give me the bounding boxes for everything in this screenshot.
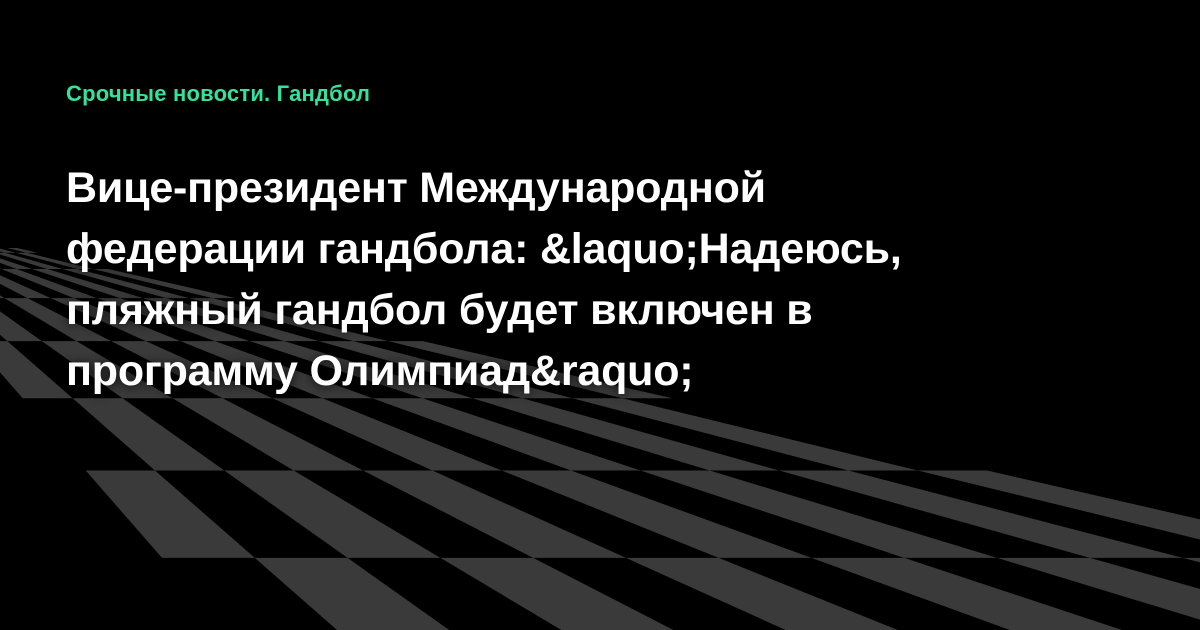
page-title: Вице-президент Международной федерации г… — [66, 158, 1076, 402]
headline-line: федерации гандбола: &laquo;Надеюсь, — [66, 219, 1076, 280]
headline-line: пляжный гандбол будет включен в — [66, 280, 1076, 341]
headline-line: Вице-президент Международной — [66, 158, 1076, 219]
share-card: Срочные новости. Гандбол Вице-президент … — [0, 0, 1200, 630]
kicker-label: Срочные новости. Гандбол — [66, 80, 370, 108]
headline-line: программу Олимпиад&raquo; — [66, 341, 1076, 402]
